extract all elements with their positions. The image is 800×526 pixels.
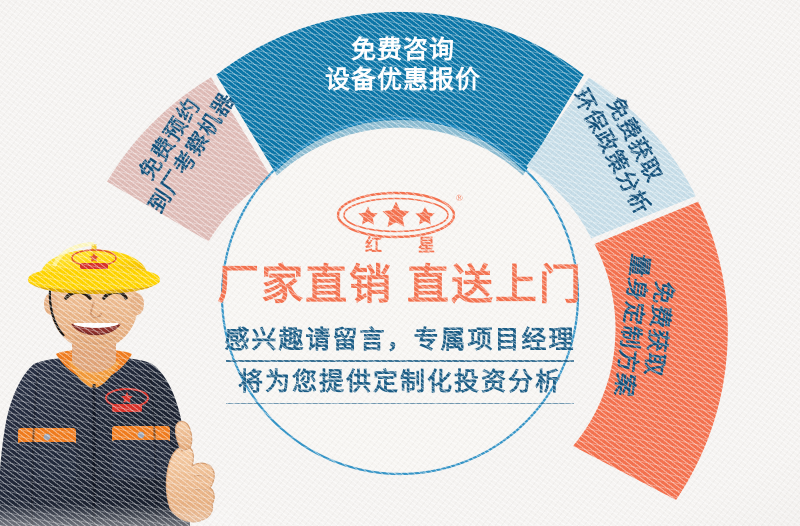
subtitle-line-1: 感兴趣请留言，专属项目经理 [188, 322, 612, 358]
safety-helmet [28, 244, 160, 294]
subtitle-line-2: 将为您提供定制化投资分析 [188, 364, 612, 400]
subtitle-divider-1 [226, 360, 574, 362]
ring-label-free-consult: 免费咨询 设备优惠报价 [318, 36, 488, 95]
worker-photo [0, 232, 234, 526]
subtitle-group: 感兴趣请留言，专属项目经理 将为您提供定制化投资分析 [188, 322, 612, 404]
center-content: ® 红 星 厂家直销 直送上门 感兴趣请留言，专属项目经理 将为您提供定制化投资… [188, 188, 612, 406]
brand-logo: ® 红 星 [188, 188, 612, 260]
ring-label-line: 设备优惠报价 [318, 66, 488, 96]
logo-wordmark: 星 [418, 236, 435, 255]
subtitle-divider-2 [226, 403, 574, 404]
worker-uniform [0, 350, 190, 526]
logo-wordmark: 红 [365, 235, 382, 255]
ring-label-line: 免费咨询 [318, 36, 488, 66]
headline: 厂家直销 直送上门 [188, 264, 612, 306]
promo-banner: 免费预约 到厂考察机器 免费咨询 设备优惠报价 免费获取 环保政策分析 免费获取… [0, 0, 800, 526]
hongxing-logo-icon: ® 红 星 [330, 189, 470, 259]
registered-mark: ® [456, 193, 463, 203]
